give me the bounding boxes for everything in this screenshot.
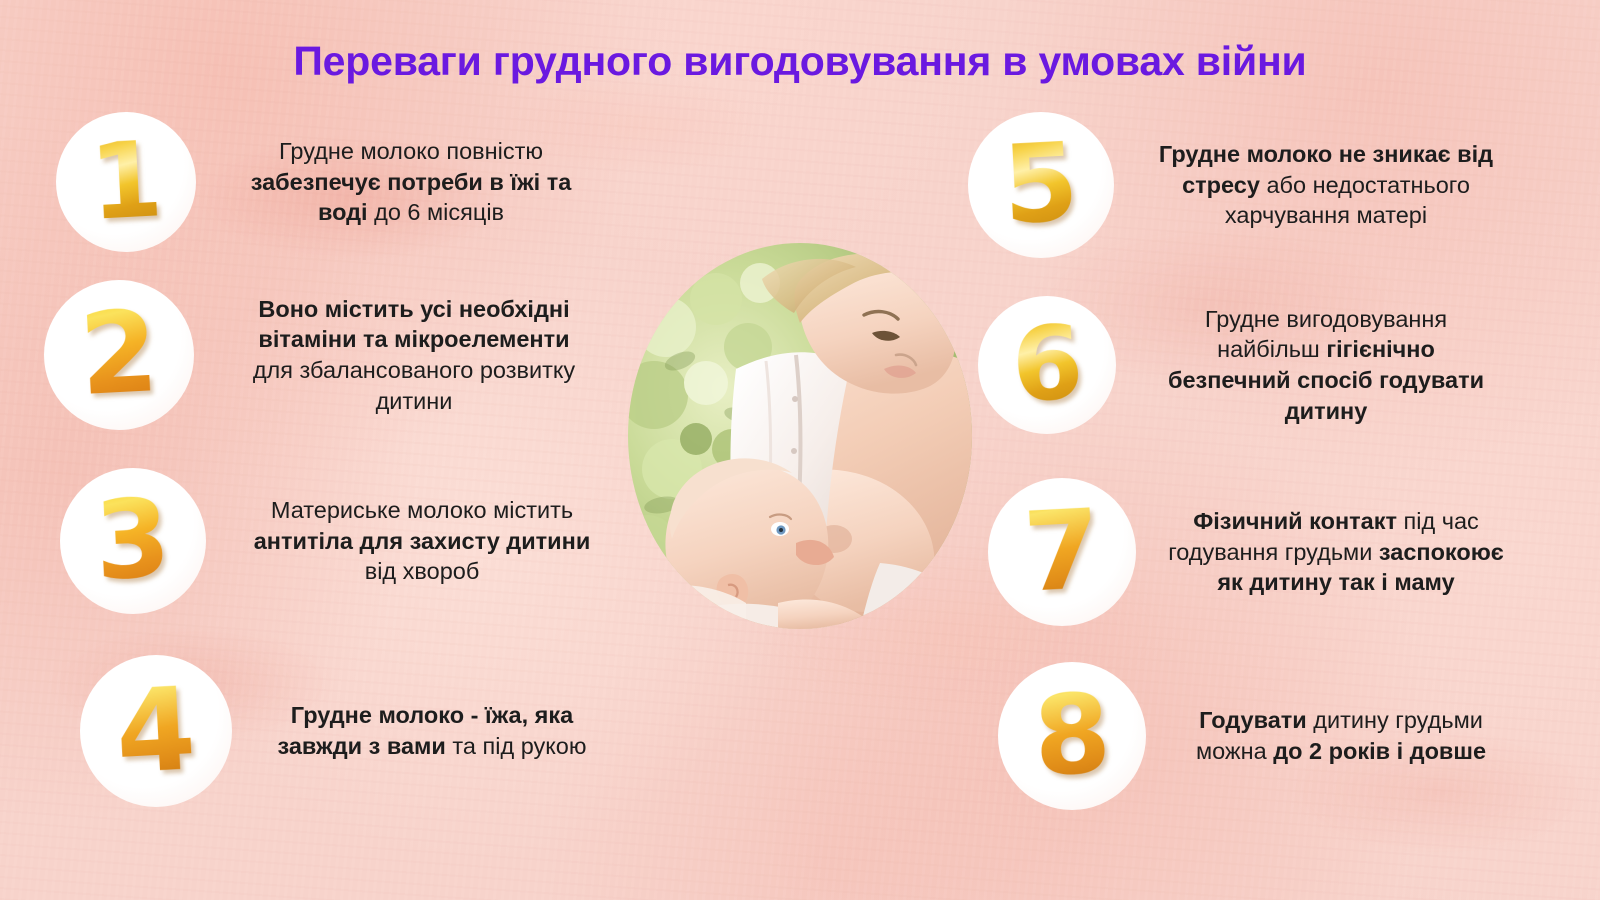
number-badge-2: 2 bbox=[44, 280, 194, 430]
benefit-line: як дитину так і маму bbox=[1136, 567, 1536, 598]
benefit-item-7: 7 Фізичний контакт під час годування гру… bbox=[988, 478, 1544, 626]
text-run: воді bbox=[318, 199, 374, 225]
benefit-item-3: 3 Материське молоко містить антитіла для… bbox=[60, 468, 638, 614]
benefit-line: Грудне молоко не зникає від bbox=[1114, 139, 1538, 170]
number-badge-3: 3 bbox=[60, 468, 206, 614]
text-run: Годувати bbox=[1199, 707, 1313, 733]
benefit-text-4: Грудне молоко - їжа, яка завжди з вами т… bbox=[232, 700, 632, 761]
center-photo-breastfeeding bbox=[628, 243, 972, 629]
page-title: Переваги грудного вигодовування в умовах… bbox=[0, 38, 1600, 85]
benefit-item-4: 4 Грудне молоко - їжа, яка завжди з вами… bbox=[80, 655, 640, 807]
benefit-item-1: 1 Грудне молоко повністю забезпечує потр… bbox=[56, 112, 636, 252]
text-run: Грудне молоко не зникає від bbox=[1159, 141, 1493, 167]
text-run: харчування матері bbox=[1225, 202, 1427, 228]
text-run: та під рукою bbox=[452, 733, 586, 759]
number-badge-1: 1 bbox=[56, 112, 196, 252]
benefit-line: Грудне вигодовування bbox=[1116, 304, 1536, 335]
benefit-line: вітаміни та мікроелементи bbox=[194, 324, 634, 355]
text-run: Материське молоко містить bbox=[271, 497, 573, 523]
text-run: забезпечує потреби в їжі та bbox=[251, 169, 572, 195]
benefit-line: найбільш гігієнічно bbox=[1116, 334, 1536, 365]
number-badge-6: 6 bbox=[978, 296, 1116, 434]
text-run: заспокоює bbox=[1379, 539, 1504, 565]
benefit-item-5: 5 Грудне молоко не зникає від стресу або… bbox=[968, 112, 1544, 258]
benefit-text-2: Воно містить усі необхідні вітаміни та м… bbox=[194, 294, 634, 416]
benefit-line: антитіла для захисту дитини bbox=[206, 526, 638, 557]
benefit-item-2: 2 Воно містить усі необхідні вітаміни та… bbox=[44, 280, 636, 430]
benefit-line: харчування матері bbox=[1114, 200, 1538, 231]
benefit-text-3: Материське молоко містить антитіла для з… bbox=[206, 495, 638, 587]
benefit-line: Грудне молоко - їжа, яка bbox=[232, 700, 632, 731]
benefit-text-1: Грудне молоко повністю забезпечує потреб… bbox=[196, 136, 626, 228]
number-badge-4: 4 bbox=[80, 655, 232, 807]
badge-number-7: 7 bbox=[1021, 499, 1103, 604]
text-run: як дитину так і маму bbox=[1217, 569, 1454, 595]
benefit-line: годування грудьми заспокоює bbox=[1136, 537, 1536, 568]
text-run: безпечний спосіб годувати bbox=[1168, 367, 1484, 393]
benefit-line: завжди з вами та під рукою bbox=[232, 731, 632, 762]
text-run: до 6 місяців bbox=[374, 199, 504, 225]
badge-number-3: 3 bbox=[93, 489, 173, 592]
badge-number-2: 2 bbox=[77, 302, 160, 409]
text-run: Воно містить усі необхідні bbox=[258, 296, 569, 322]
benefit-text-6: Грудне вигодовування найбільш гігієнічно… bbox=[1116, 304, 1536, 426]
benefit-line: стресу або недостатнього bbox=[1114, 170, 1538, 201]
benefit-line: можна до 2 років і довше bbox=[1146, 736, 1536, 767]
badge-number-8: 8 bbox=[1031, 683, 1113, 788]
benefit-line: безпечний спосіб годувати bbox=[1116, 365, 1536, 396]
benefit-item-6: 6 Грудне вигодовування найбільш гігієніч… bbox=[978, 296, 1544, 434]
text-run: до 2 років і довше bbox=[1273, 738, 1486, 764]
benefit-line: Воно містить усі необхідні bbox=[194, 294, 634, 325]
number-badge-8: 8 bbox=[998, 662, 1146, 810]
text-run: антитіла для захисту дитини bbox=[254, 528, 591, 554]
benefit-text-8: Годувати дитину грудьми можна до 2 років… bbox=[1146, 705, 1536, 766]
badge-number-1: 1 bbox=[87, 132, 164, 231]
text-run: можна bbox=[1196, 738, 1273, 764]
text-run: для збалансованого розвитку bbox=[253, 357, 575, 383]
benefit-item-8: 8 Годувати дитину грудьми можна до 2 рок… bbox=[998, 662, 1544, 810]
benefit-text-7: Фізичний контакт під час годування грудь… bbox=[1136, 506, 1536, 598]
badge-number-4: 4 bbox=[114, 677, 199, 786]
benefit-line: від хвороб bbox=[206, 556, 638, 587]
benefit-line: забезпечує потреби в їжі та bbox=[196, 167, 626, 198]
text-run: під час bbox=[1404, 508, 1479, 534]
text-run: дитину грудьми bbox=[1313, 707, 1483, 733]
benefit-line: для збалансованого розвитку bbox=[194, 355, 634, 386]
text-run: Грудне молоко - їжа, яка bbox=[291, 702, 573, 728]
text-run: дитину bbox=[1285, 398, 1368, 424]
text-run: або недостатнього bbox=[1266, 172, 1469, 198]
benefit-line: Материське молоко містить bbox=[206, 495, 638, 526]
benefit-line: дитини bbox=[194, 386, 634, 417]
benefit-line: воді до 6 місяців bbox=[196, 197, 626, 228]
text-run: вітаміни та мікроелементи bbox=[258, 326, 569, 352]
text-run: гігієнічно bbox=[1326, 336, 1435, 362]
text-run: найбільш bbox=[1217, 336, 1326, 362]
benefit-line: Грудне молоко повністю bbox=[196, 136, 626, 167]
number-badge-7: 7 bbox=[988, 478, 1136, 626]
text-run: завжди з вами bbox=[277, 733, 452, 759]
text-run: дитини bbox=[376, 388, 453, 414]
benefit-line: дитину bbox=[1116, 396, 1536, 427]
infographic-poster: Переваги грудного вигодовування в умовах… bbox=[0, 0, 1600, 900]
text-run: Грудне вигодовування bbox=[1205, 306, 1447, 332]
text-run: Фізичний контакт bbox=[1193, 508, 1403, 534]
benefit-text-5: Грудне молоко не зникає від стресу або н… bbox=[1114, 139, 1538, 231]
benefit-line: Фізичний контакт під час bbox=[1136, 506, 1536, 537]
text-run: Грудне молоко повністю bbox=[279, 138, 543, 164]
text-run: стресу bbox=[1182, 172, 1266, 198]
badge-number-5: 5 bbox=[1001, 133, 1081, 236]
benefit-line: Годувати дитину грудьми bbox=[1146, 705, 1536, 736]
number-badge-5: 5 bbox=[968, 112, 1114, 258]
text-run: від хвороб bbox=[365, 558, 480, 584]
badge-number-6: 6 bbox=[1009, 316, 1085, 413]
text-run: годування грудьми bbox=[1168, 539, 1379, 565]
